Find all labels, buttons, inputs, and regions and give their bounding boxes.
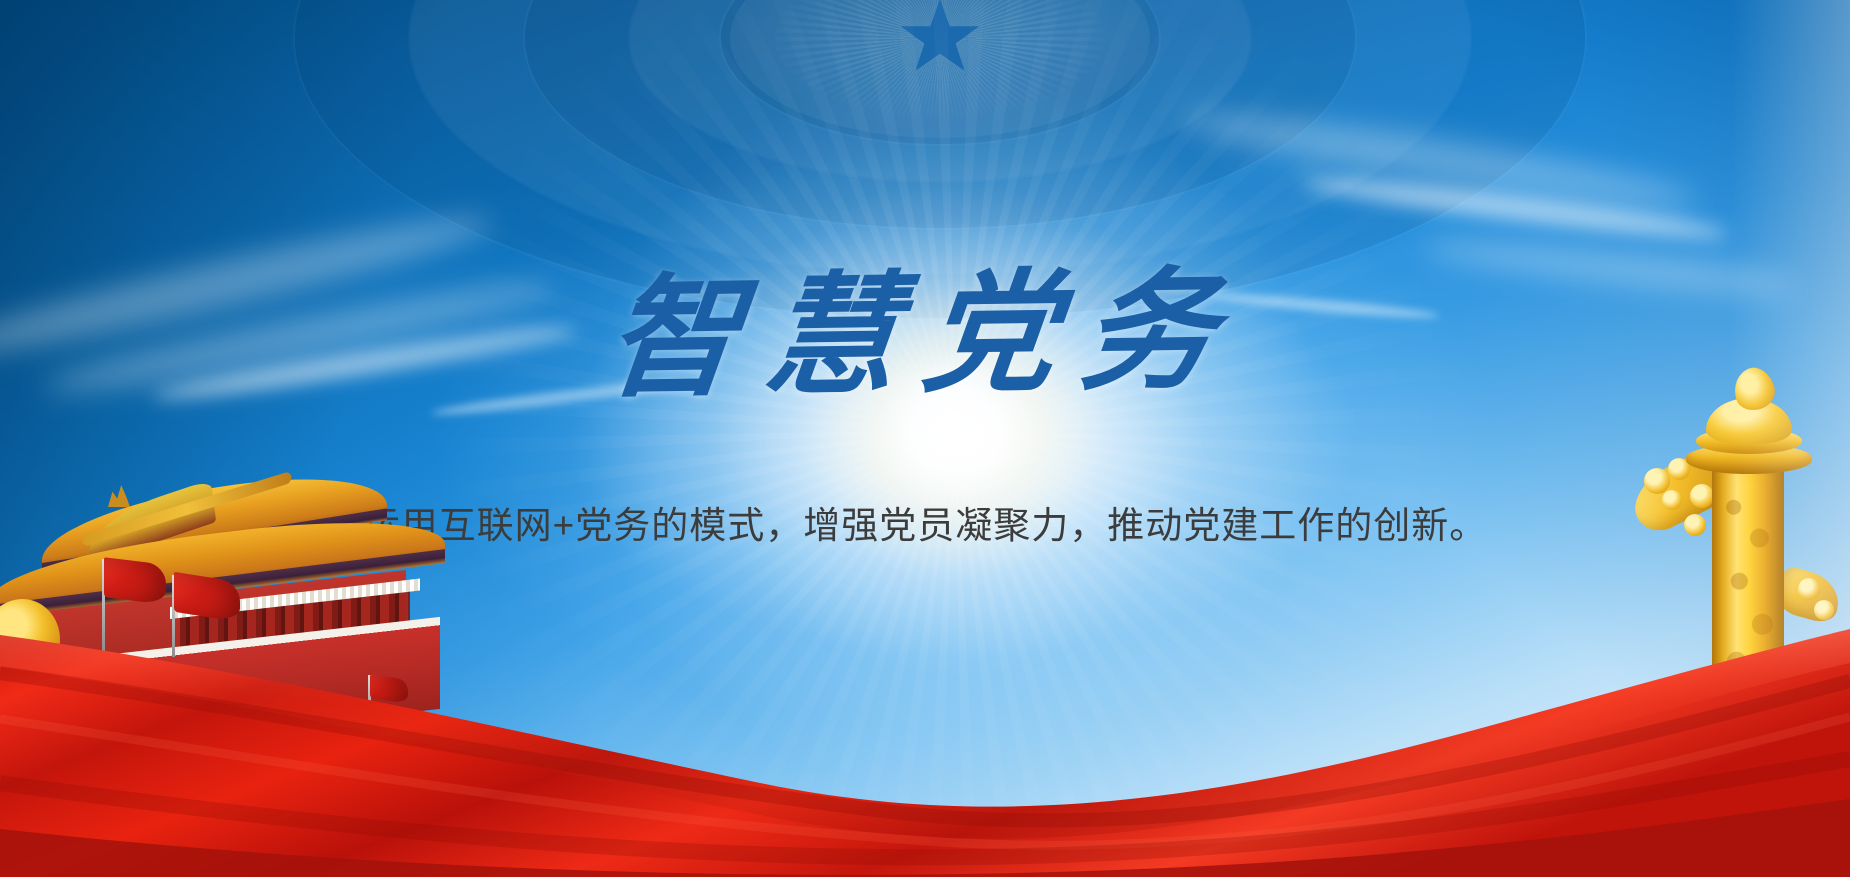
huabiao-cloud-knob	[1684, 514, 1706, 536]
gate-roof-finial	[108, 485, 130, 507]
huabiao-cloud-knob	[1690, 484, 1714, 508]
page-title: 智慧党务	[0, 215, 1850, 432]
ribbon-svg	[0, 577, 1850, 877]
huabiao-cloud-knob	[1662, 490, 1682, 510]
red-silk-ribbon	[0, 577, 1850, 877]
party-affairs-banner: 智慧党务 运用互联网+党务的模式，增强党员凝聚力，推动党建工作的创新。 中华人民…	[0, 0, 1850, 877]
huabiao-cloud-knob	[1644, 468, 1670, 494]
